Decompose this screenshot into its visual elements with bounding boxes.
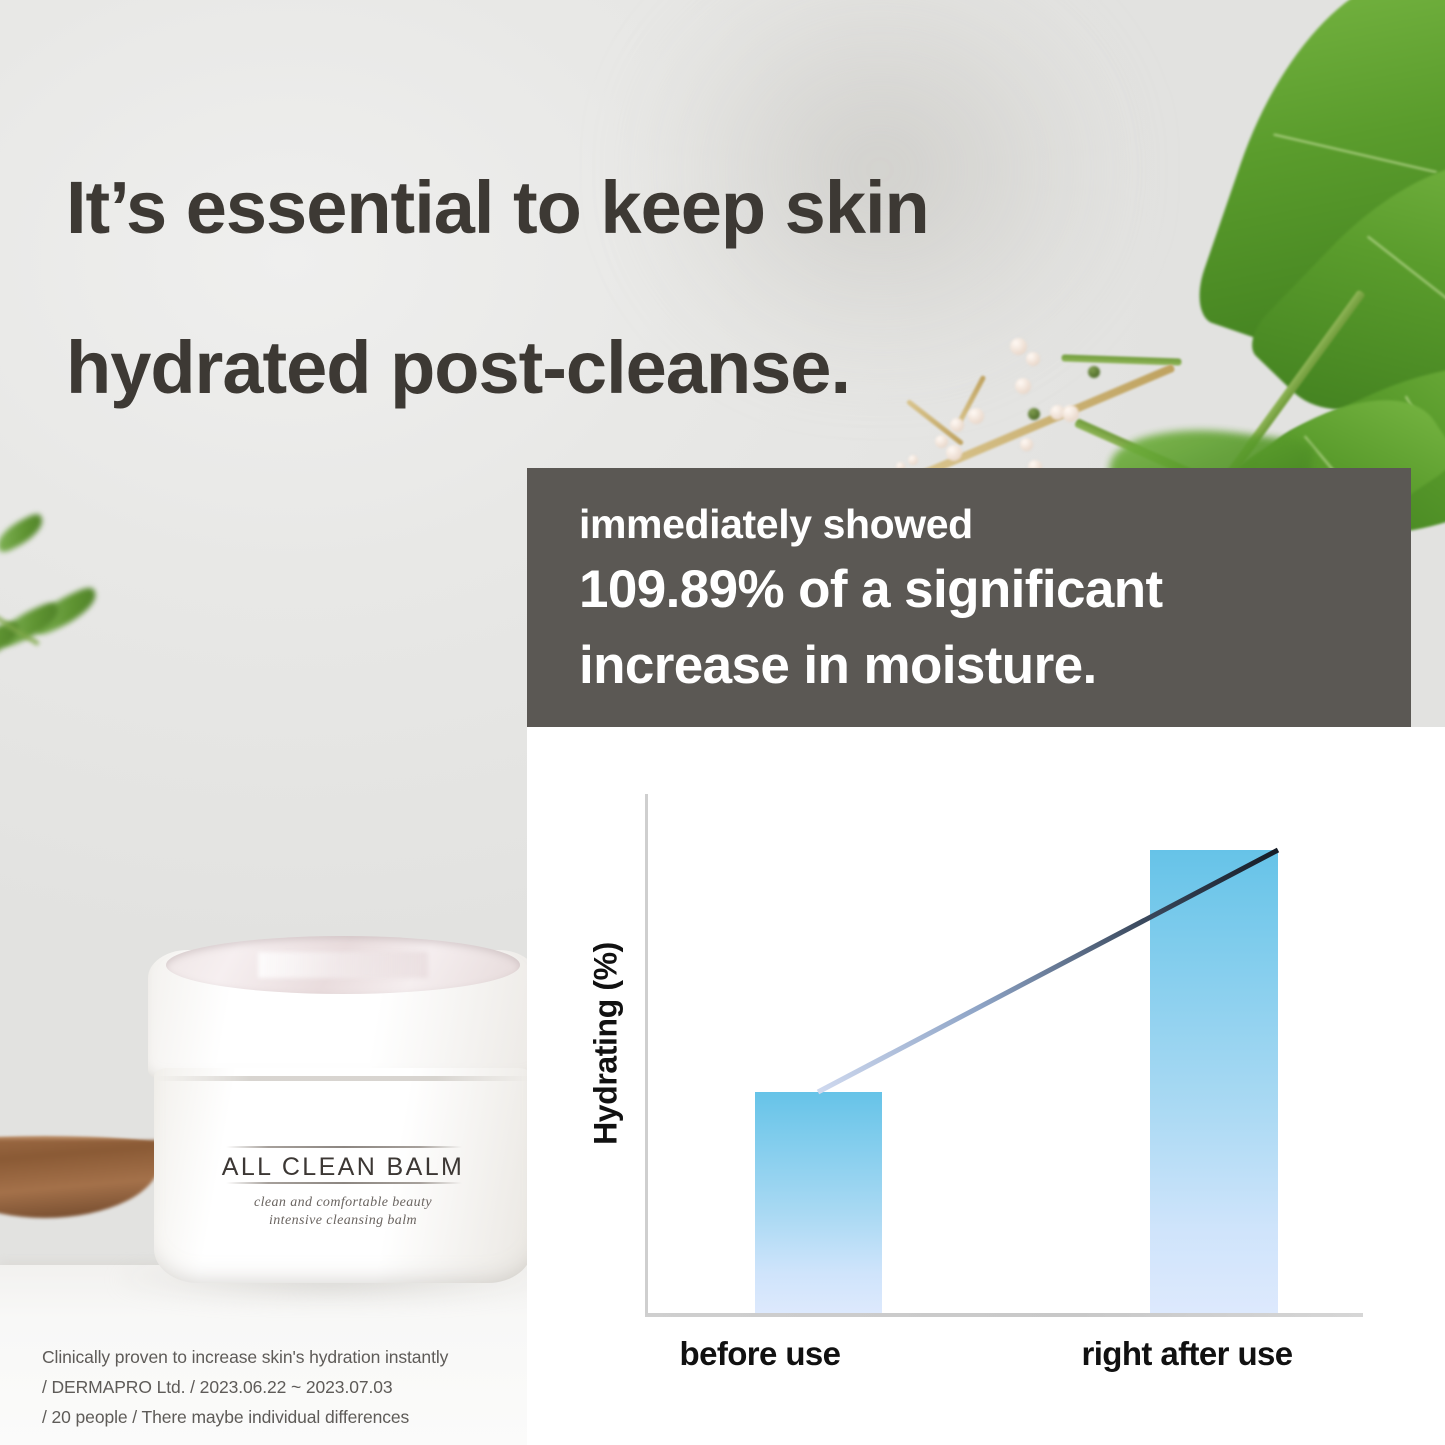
product-tagline-line2: intensive cleansing balm bbox=[269, 1213, 417, 1228]
hydration-bar-chart: Hydrating (%) before use right after use bbox=[527, 727, 1445, 1445]
disclaimer-line-3: / 20 people / There maybe individual dif… bbox=[42, 1402, 542, 1432]
jar-lid-top bbox=[166, 936, 520, 994]
product-detail-page: ALL CLEAN BALM clean and comfortable bea… bbox=[0, 0, 1445, 1445]
chart-bars bbox=[645, 794, 1363, 1313]
disclaimer-line-2: / DERMAPRO Ltd. / 2023.06.22 ~ 2023.07.0… bbox=[42, 1372, 542, 1402]
product-jar: ALL CLEAN BALM clean and comfortable bea… bbox=[148, 950, 538, 1285]
stat-callout: immediately showed 109.89% of a signific… bbox=[527, 468, 1411, 727]
flower-bud bbox=[908, 455, 918, 465]
chart-y-axis-label: Hydrating (%) bbox=[588, 904, 625, 1184]
bar-right-after-use bbox=[1150, 850, 1278, 1313]
headline-line-2: hydrated post-cleanse. bbox=[66, 288, 1196, 448]
label-rule-top bbox=[226, 1146, 462, 1148]
callout-line-3: increase in moisture. bbox=[579, 629, 1411, 703]
wooden-bowl bbox=[0, 1140, 160, 1218]
chart-x-tick-right-after-use: right after use bbox=[1022, 1335, 1352, 1373]
chart-x-axis-line bbox=[645, 1313, 1363, 1317]
leaf-icon bbox=[0, 512, 48, 555]
product-tagline: clean and comfortable beauty intensive c… bbox=[148, 1194, 538, 1230]
headline-line-1: It’s essential to keep skin bbox=[66, 166, 929, 249]
bar-before-use bbox=[755, 1092, 882, 1313]
chart-x-tick-before-use: before use bbox=[615, 1335, 905, 1373]
label-rule-bottom bbox=[226, 1182, 462, 1184]
disclaimer-line-1: Clinically proven to increase skin's hyd… bbox=[42, 1342, 542, 1372]
product-tagline-line1: clean and comfortable beauty bbox=[254, 1195, 432, 1210]
page-title: It’s essential to keep skin hydrated pos… bbox=[66, 128, 1196, 448]
jar-seam bbox=[156, 1076, 530, 1081]
callout-line-1: immediately showed bbox=[579, 498, 1411, 550]
callout-line-2: 109.89% of a significant bbox=[579, 550, 1411, 629]
product-name: ALL CLEAN BALM bbox=[148, 1153, 538, 1182]
clinical-disclaimer: Clinically proven to increase skin's hyd… bbox=[42, 1342, 542, 1432]
